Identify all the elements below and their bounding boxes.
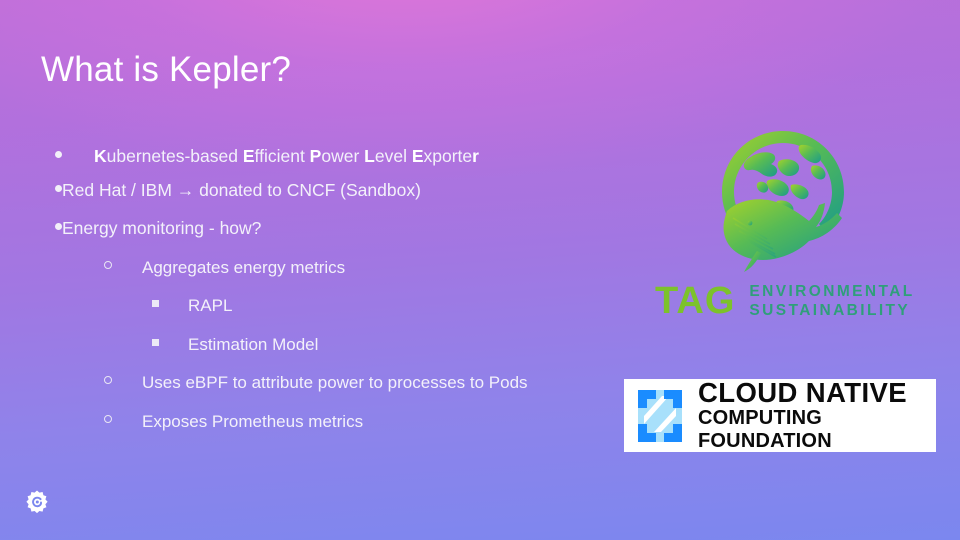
list-item: Uses eBPF to attribute power to processe… [104, 372, 528, 393]
cncf-logo: CLOUD NATIVE COMPUTING FOUNDATION [624, 379, 936, 452]
list-item-label: Kubernetes-based Efficient Power Level E… [94, 146, 479, 168]
cncf-line1: CLOUD NATIVE [698, 378, 926, 408]
list-item: Red Hat / IBM → donated to CNCF (Sandbox… [55, 180, 421, 202]
cncf-wordmark: CLOUD NATIVE COMPUTING FOUNDATION [698, 378, 926, 454]
list-item: Kubernetes-based Efficient Power Level E… [55, 146, 479, 168]
list-item-label: Estimation Model [188, 334, 318, 355]
list-item-label: Exposes Prometheus metrics [142, 411, 363, 432]
bullet-circle-icon [104, 376, 112, 384]
tag-wordmark: TAG ENVIRONMENTAL SUSTAINABILITY [655, 277, 920, 325]
list-item: RAPL [152, 295, 232, 316]
bullet-disc-icon [55, 223, 62, 230]
bullet-circle-icon [104, 415, 112, 423]
list-item: Aggregates energy metrics [104, 257, 345, 278]
globe-whale-icon [713, 125, 853, 275]
list-item: Exposes Prometheus metrics [104, 411, 363, 432]
list-item-label: Uses eBPF to attribute power to processe… [142, 372, 528, 393]
tag-abbreviation: TAG [655, 282, 735, 320]
list-item-label: Aggregates energy metrics [142, 257, 345, 278]
tag-environmental-sustainability-logo: TAG ENVIRONMENTAL SUSTAINABILITY [655, 125, 920, 325]
bullet-disc-icon [55, 151, 62, 158]
list-item-label: Energy monitoring - how? [62, 218, 261, 240]
list-item-label: Red Hat / IBM → donated to CNCF (Sandbox… [62, 180, 421, 202]
list-item-label: RAPL [188, 295, 232, 316]
list-item: Estimation Model [152, 334, 318, 355]
list-item: Energy monitoring - how? [55, 218, 261, 240]
page-title: What is Kepler? [41, 50, 291, 90]
tag-tagline: ENVIRONMENTAL SUSTAINABILITY [749, 282, 914, 321]
bullet-square-icon [152, 300, 159, 307]
grafana-icon [25, 490, 49, 517]
bullet-circle-icon [104, 261, 112, 269]
tag-tagline-line1: ENVIRONMENTAL [749, 282, 914, 301]
slide-canvas: What is Kepler? Kubernetes-based Efficie… [0, 0, 960, 540]
cncf-mark-icon [632, 386, 688, 446]
bullet-disc-icon [55, 185, 62, 192]
tag-tagline-line2: SUSTAINABILITY [749, 301, 914, 320]
cncf-line2: COMPUTING FOUNDATION [698, 407, 926, 453]
bullet-square-icon [152, 339, 159, 346]
